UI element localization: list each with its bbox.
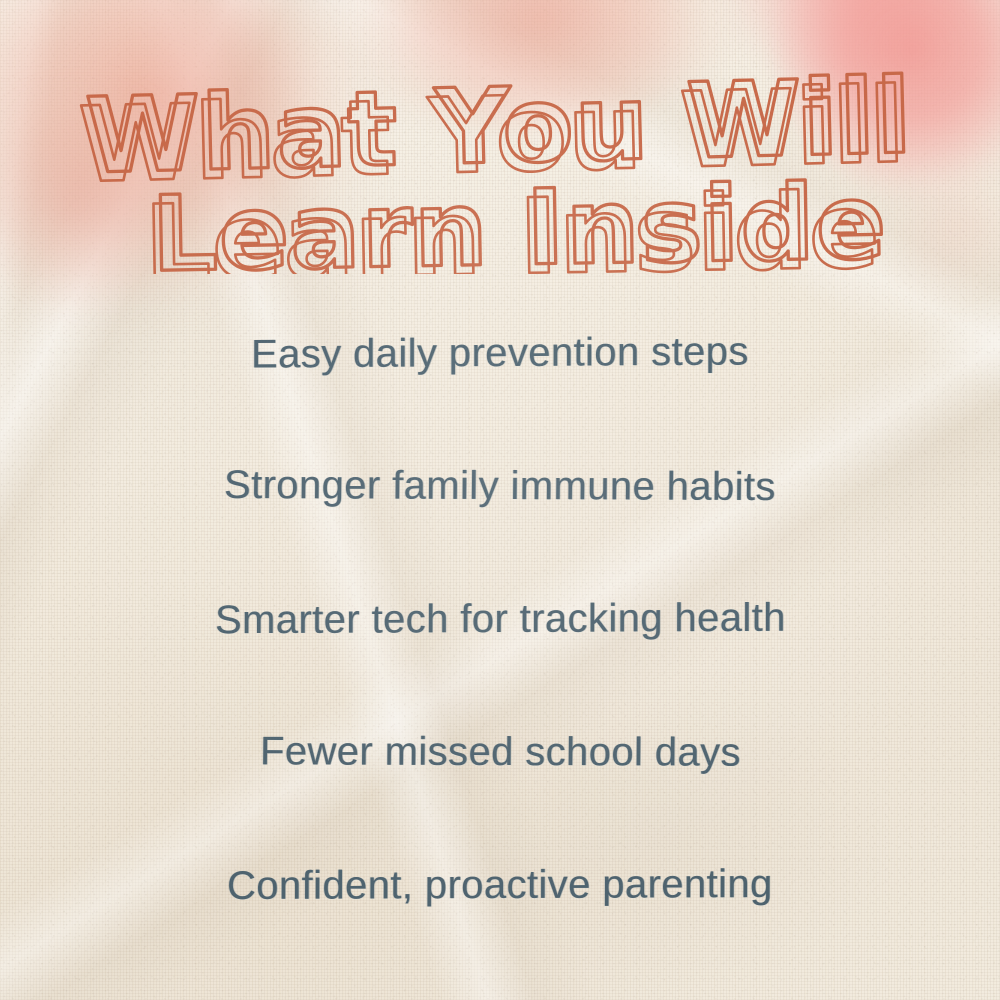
poster-title: What You Will What You Will Learn Inside… bbox=[0, 34, 1000, 274]
poster-canvas: What You Will What You Will Learn Inside… bbox=[0, 0, 1000, 1000]
benefits-list: Easy daily prevention steps Stronger fam… bbox=[0, 286, 1000, 951]
list-item-label: Fewer missed school days bbox=[259, 731, 740, 772]
title-line2-outline: Learn Inside bbox=[150, 161, 888, 274]
list-item-label: Smarter tech for tracking health bbox=[215, 597, 786, 639]
list-item: Fewer missed school days bbox=[0, 685, 1000, 818]
list-item: Easy daily prevention steps bbox=[0, 286, 1000, 419]
list-item-label: Stronger family immune habits bbox=[224, 465, 776, 507]
list-item: Smarter tech for tracking health bbox=[0, 552, 1000, 685]
list-item: Stronger family immune habits bbox=[0, 419, 1000, 552]
list-item-label: Easy daily prevention steps bbox=[251, 331, 749, 374]
list-item: Confident, proactive parenting bbox=[0, 818, 1000, 951]
list-item-label: Confident, proactive parenting bbox=[227, 864, 773, 906]
title-artwork: What You Will What You Will Learn Inside… bbox=[0, 34, 1000, 274]
